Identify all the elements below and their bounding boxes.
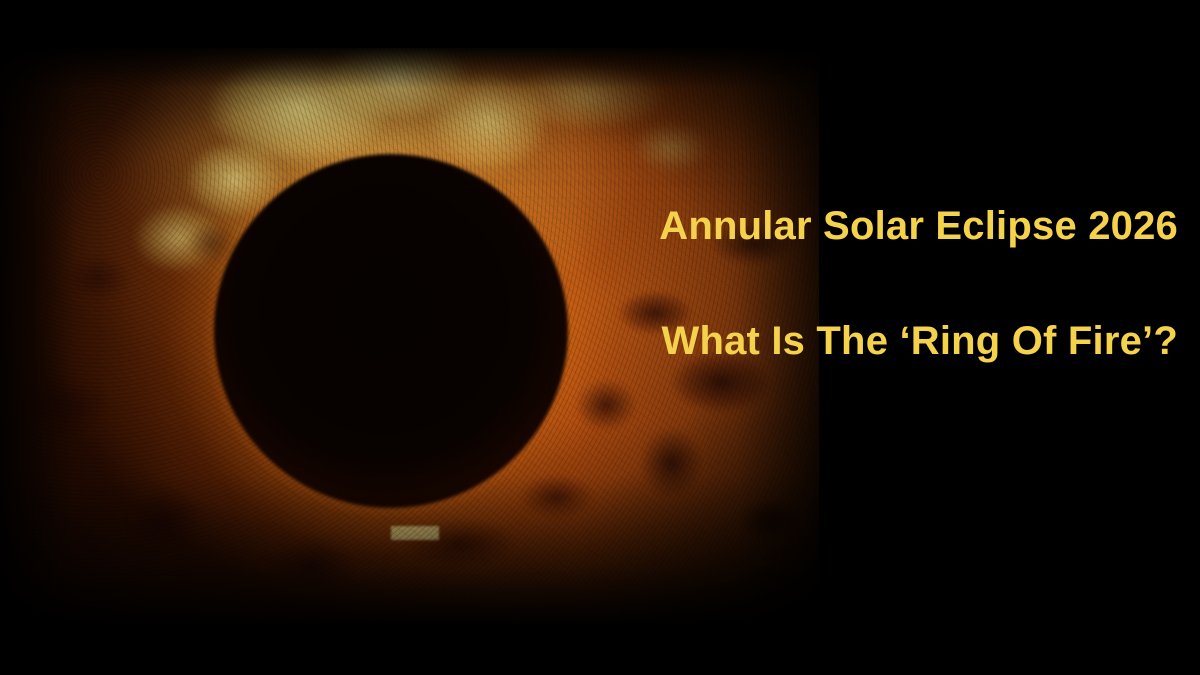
screenshot-canvas: Annular Solar Eclipse 2026 What Is The ‘… [0,0,1200,675]
caption-line-title: Annular Solar Eclipse 2026 [558,196,1178,256]
caption-line-question: What Is The ‘Ring Of Fire’? [558,311,1178,371]
caption-block: Annular Solar Eclipse 2026 What Is The ‘… [558,196,1178,371]
